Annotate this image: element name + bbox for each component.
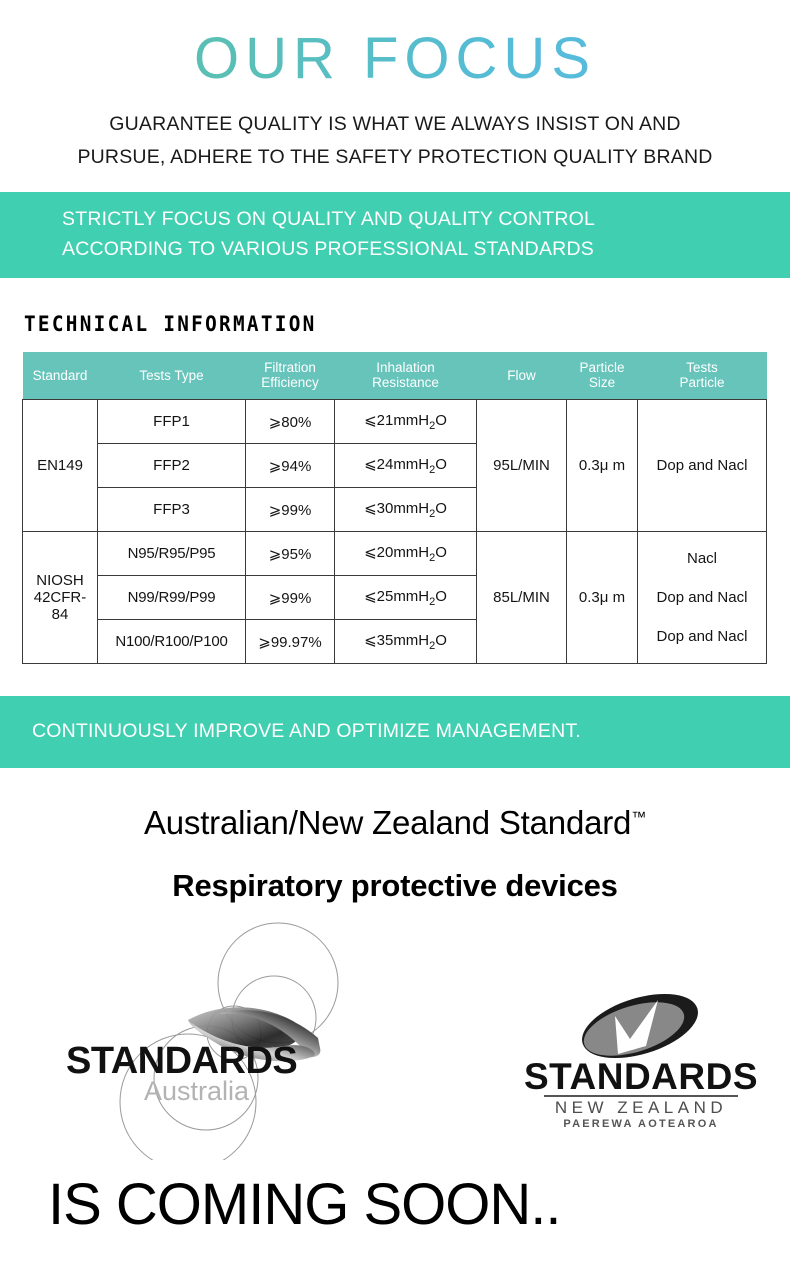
cell-ir-num: ⩽21mmH — [364, 412, 429, 429]
banner-bottom-text: CONTINUOUSLY IMPROVE AND OPTIMIZE MANAGE… — [32, 720, 581, 742]
cell-filtration-efficiency: ⩾95% — [246, 532, 335, 576]
banner-top-line1: STRICTLY FOCUS ON QUALITY AND QUALITY CO… — [62, 204, 760, 234]
cell-ps-num: 0.3 — [579, 457, 600, 474]
standards-title-text: Australian/New Zealand Standard — [144, 804, 631, 841]
col-header-standard: Standard — [23, 352, 98, 400]
cell-ir-tail: O — [435, 456, 447, 473]
cell-tests-type: N99/R99/P99 — [98, 576, 246, 620]
col-header-filtration-efficiency-l2: Efficiency — [248, 375, 333, 390]
cell-inhalation-resistance: ⩽20mmH2O — [335, 532, 477, 576]
cell-ps-unit: μ m — [600, 589, 625, 606]
standards-australia-logo: STANDARDS Australia — [56, 910, 396, 1160]
spec-table-wrapper: Standard Tests Type Filtration Efficienc… — [22, 352, 766, 664]
col-header-tests-type: Tests Type — [98, 352, 246, 400]
cell-tests-type: N100/R100/P100 — [98, 620, 246, 664]
banner-bottom: CONTINUOUSLY IMPROVE AND OPTIMIZE MANAGE… — [0, 696, 790, 768]
section-heading: TECHNICAL INFORMATION — [24, 312, 729, 336]
cell-inhalation-resistance: ⩽25mmH2O — [335, 576, 477, 620]
cell-tests-type: FFP2 — [98, 444, 246, 488]
col-header-tests-particle-l1: Tests — [640, 360, 765, 375]
cell-flow: 95L/MIN — [477, 400, 567, 532]
logo-au-sub-wordmark: Australia — [144, 1076, 250, 1106]
cell-ir-num: ⩽25mmH — [364, 588, 429, 605]
cell-filtration-efficiency: ⩾99% — [246, 576, 335, 620]
page-subtitle-line2: PURSUE, ADHERE TO THE SAFETY PROTECTION … — [30, 141, 760, 174]
cell-inhalation-resistance: ⩽30mmH2O — [335, 488, 477, 532]
cell-ir-num: ⩽35mmH — [364, 632, 429, 649]
cell-ir-tail: O — [435, 544, 447, 561]
cell-inhalation-resistance: ⩽21mmH2O — [335, 400, 477, 444]
cell-standard: NIOSH 42CFR-84 — [23, 532, 98, 664]
cell-tests-type: FFP3 — [98, 488, 246, 532]
cell-ir-num: ⩽30mmH — [364, 500, 429, 517]
table-row: EN149 FFP1 ⩾80% ⩽21mmH2O 95L/MIN 0.3μ m … — [23, 400, 767, 444]
cell-tests-particle-l2: Dop and Nacl — [641, 578, 763, 617]
page-subtitle-line1: GUARANTEE QUALITY IS WHAT WE ALWAYS INSI… — [30, 108, 760, 141]
col-header-particle-size: Particle Size — [567, 352, 638, 400]
logo-nz-wordmark: STANDARDS — [524, 1056, 758, 1097]
logo-nz-sub-wordmark-2: PAEREWA AOTEAROA — [563, 1118, 718, 1130]
banner-top: STRICTLY FOCUS ON QUALITY AND QUALITY CO… — [0, 192, 790, 278]
cell-ir-tail: O — [435, 412, 447, 429]
cell-ir-tail: O — [435, 588, 447, 605]
col-header-particle-size-l2: Size — [569, 375, 636, 390]
standards-new-zealand-logo: STANDARDS NEW ZEALAND PAEREWA AOTEAROA — [522, 990, 760, 1130]
standards-title: Australian/New Zealand Standard™ — [0, 804, 790, 842]
cell-flow: 85L/MIN — [477, 532, 567, 664]
cell-standard-l1: NIOSH — [26, 572, 94, 589]
trademark-icon: ™ — [631, 809, 646, 826]
col-header-filtration-efficiency: Filtration Efficiency — [246, 352, 335, 400]
cell-particle-size: 0.3μ m — [567, 532, 638, 664]
banner-top-line2: ACCORDING TO VARIOUS PROFESSIONAL STANDA… — [62, 234, 760, 264]
cell-tests-particle: Dop and Nacl — [638, 400, 767, 532]
cell-ir-tail: O — [435, 632, 447, 649]
col-header-inhalation-resistance-l2: Resistance — [337, 375, 475, 390]
coming-soon-text: IS COMING SOON.. — [0, 1168, 790, 1242]
cell-ir-tail: O — [435, 500, 447, 517]
page-title: OUR FOCUS — [0, 0, 790, 88]
col-header-inhalation-resistance: Inhalation Resistance — [335, 352, 477, 400]
cell-ir-num: ⩽20mmH — [364, 544, 429, 561]
cell-ps-num: 0.3 — [579, 589, 600, 606]
cell-ir-num: ⩽24mmH — [364, 456, 429, 473]
cell-particle-size: 0.3μ m — [567, 400, 638, 532]
page-subtitle: GUARANTEE QUALITY IS WHAT WE ALWAYS INSI… — [0, 108, 790, 174]
cell-inhalation-resistance: ⩽24mmH2O — [335, 444, 477, 488]
cell-tests-type: N95/R95/P95 — [98, 532, 246, 576]
cell-inhalation-resistance: ⩽35mmH2O — [335, 620, 477, 664]
cell-ps-unit: μ m — [600, 457, 625, 474]
cell-filtration-efficiency: ⩾99% — [246, 488, 335, 532]
col-header-particle-size-l1: Particle — [569, 360, 636, 375]
cell-filtration-efficiency: ⩾80% — [246, 400, 335, 444]
technical-information-table: Standard Tests Type Filtration Efficienc… — [22, 352, 767, 664]
logos-row: STANDARDS Australia STANDARDS NEW ZEALAN… — [0, 918, 790, 1168]
cell-tests-particle: Nacl Dop and Nacl Dop and Nacl — [638, 532, 767, 664]
col-header-tests-particle: Tests Particle — [638, 352, 767, 400]
col-header-filtration-efficiency-l1: Filtration — [248, 360, 333, 375]
cell-standard: EN149 — [23, 400, 98, 532]
cell-standard-l2: 42CFR-84 — [26, 589, 94, 623]
col-header-inhalation-resistance-l1: Inhalation — [337, 360, 475, 375]
page-root: OUR FOCUS GUARANTEE QUALITY IS WHAT WE A… — [0, 0, 790, 1276]
table-row: NIOSH 42CFR-84 N95/R95/P95 ⩾95% ⩽20mmH2O… — [23, 532, 767, 576]
cell-tests-type: FFP1 — [98, 400, 246, 444]
standards-subtitle: Respiratory protective devices — [0, 868, 790, 904]
cell-filtration-efficiency: ⩾99.97% — [246, 620, 335, 664]
cell-filtration-efficiency: ⩾94% — [246, 444, 335, 488]
table-header-row: Standard Tests Type Filtration Efficienc… — [23, 352, 767, 400]
cell-tests-particle-l1: Nacl — [641, 539, 763, 578]
col-header-flow: Flow — [477, 352, 567, 400]
logo-nz-sub-wordmark: NEW ZEALAND — [555, 1098, 727, 1117]
col-header-tests-particle-l2: Particle — [640, 375, 765, 390]
cell-tests-particle-l3: Dop and Nacl — [641, 617, 763, 656]
